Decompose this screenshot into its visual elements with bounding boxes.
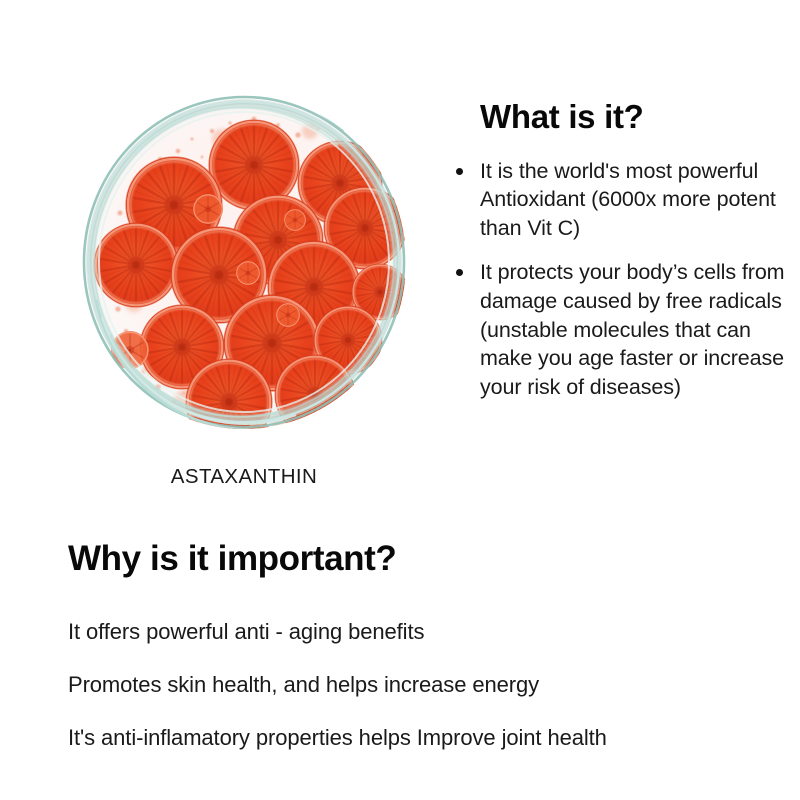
- benefit-line: It's anti-inflamatory properties helps I…: [68, 727, 788, 749]
- why-important-heading: Why is it important?: [68, 540, 788, 579]
- why-important-lines: It offers powerful anti - aging benefits…: [68, 621, 788, 749]
- benefit-line: Promotes skin health, and helps increase…: [68, 674, 788, 696]
- list-item: It is the world's most powerful Antioxid…: [452, 157, 800, 243]
- astaxanthin-figure: ASTAXANTHIN: [72, 95, 416, 515]
- what-is-it-heading: What is it?: [480, 100, 800, 135]
- petri-dish-graphic: [82, 95, 406, 429]
- petri-dish-image: [82, 95, 406, 429]
- bullet-text: It is the world's most powerful Antioxid…: [480, 159, 776, 240]
- bullet-dot-icon: [456, 168, 463, 175]
- infographic-page: ASTAXANTHIN What is it? It is the world'…: [0, 0, 800, 800]
- petri-dish: [82, 95, 406, 429]
- benefit-line: It offers powerful anti - aging benefits: [68, 621, 788, 643]
- figure-caption: ASTAXANTHIN: [72, 465, 416, 489]
- bullet-dot-icon: [456, 269, 463, 276]
- dish-rim: [84, 95, 404, 429]
- list-item: It protects your body’s cells from damag…: [452, 258, 800, 401]
- top-section: ASTAXANTHIN What is it? It is the world'…: [0, 0, 800, 520]
- bullet-text: It protects your body’s cells from damag…: [480, 260, 785, 398]
- what-is-it-section: What is it? It is the world's most power…: [452, 100, 800, 417]
- what-is-it-bullet-list: It is the world's most powerful Antioxid…: [452, 157, 800, 402]
- why-important-section: Why is it important? It offers powerful …: [68, 540, 788, 749]
